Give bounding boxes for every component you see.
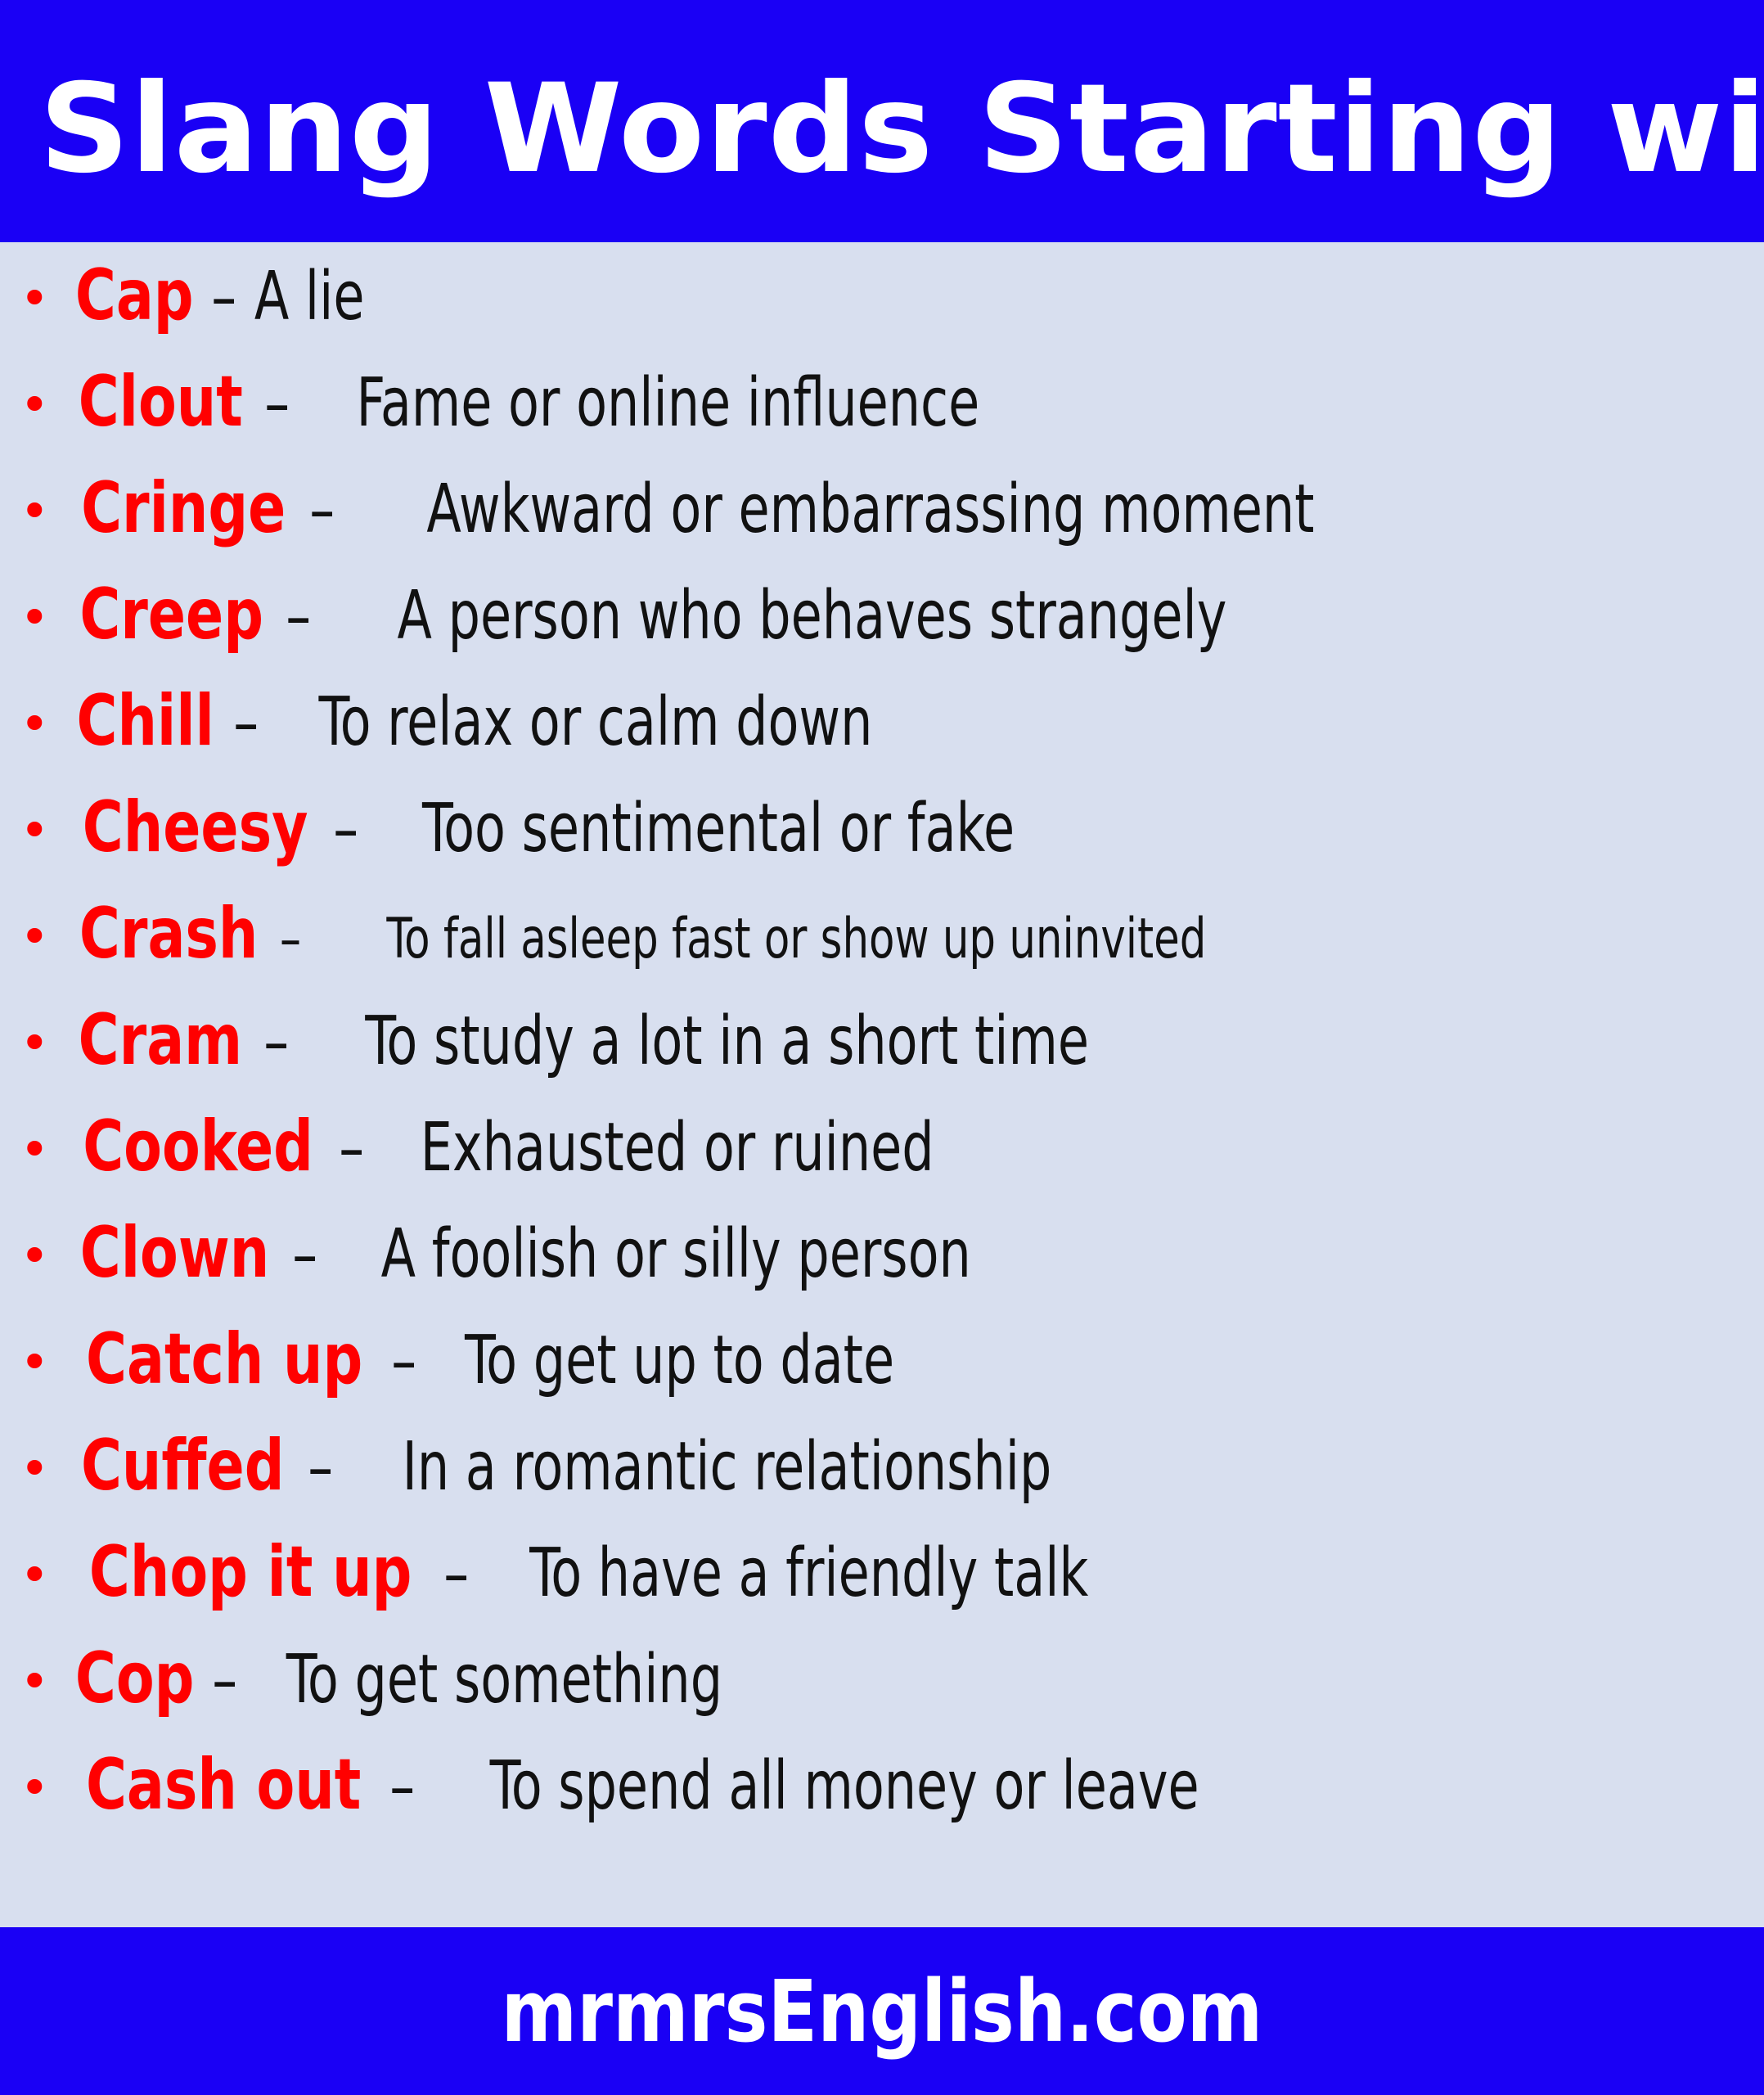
separator-dash: – [205, 264, 241, 330]
separator-dash: – [385, 1328, 421, 1394]
slang-term: Cuffed [81, 1430, 285, 1501]
slang-definition: In a romantic relationship [403, 1434, 1052, 1501]
poster-header: Slang Words Starting with C [0, 0, 1764, 242]
slang-poster: Slang Words Starting with C • Cap – A li… [0, 0, 1764, 2095]
slang-term: Crash [79, 899, 259, 969]
slang-definition: Exhausted or ruined [421, 1115, 934, 1182]
separator-dash: – [205, 1647, 241, 1713]
slang-term: Chill [76, 686, 214, 756]
separator-dash: – [303, 477, 339, 543]
bullet-icon: • [20, 1763, 67, 1813]
slang-definition: A person who behaves strangely [398, 583, 1227, 650]
list-item: • Crash – To fall asleep fast or show up… [0, 899, 1764, 1005]
slang-definition: To fall asleep fast or show up uninvited [386, 912, 1206, 967]
slang-definition: A lie [254, 264, 365, 331]
slang-definition: To study a lot in a short time [365, 1008, 1089, 1075]
slang-term: Cash out [86, 1750, 361, 1820]
slang-definition: Awkward or embarrassing moment [427, 476, 1315, 543]
slang-definition: To get up to date [465, 1327, 894, 1394]
slang-term: Clown [80, 1218, 269, 1288]
separator-dash: – [227, 690, 263, 755]
separator-dash: – [437, 1541, 473, 1606]
list-item: • Cringe – Awkward or embarrassing momen… [0, 473, 1764, 579]
bullet-icon: • [20, 1124, 67, 1175]
slang-term: Cram [79, 1005, 242, 1075]
separator-dash: – [257, 1009, 293, 1075]
bullet-icon: • [20, 1231, 67, 1282]
separator-dash: – [383, 1754, 419, 1819]
list-item: • Clown – A foolish or silly person [0, 1218, 1764, 1324]
separator-dash: – [326, 796, 362, 862]
page-title: Slang Words Starting with C [39, 48, 1764, 194]
list-item: • Catch up – To get up to date [0, 1324, 1764, 1430]
separator-dash: – [286, 1222, 322, 1287]
page-title-text: Slang Words Starting with [39, 68, 1764, 191]
slang-definition: To relax or calm down [319, 689, 873, 756]
bullet-icon: • [20, 805, 67, 856]
list-item: • Clout – Fame or online influence [0, 367, 1764, 473]
list-item: • Cash out – To spend all money or leave [0, 1750, 1764, 1856]
separator-dash: – [273, 912, 306, 967]
slang-definition: To have a friendly talk [529, 1540, 1088, 1607]
poster-footer: mrmrsEnglish.com [0, 1927, 1764, 2095]
list-item: • Cuffed – In a romantic relationship [0, 1430, 1764, 1537]
slang-term: Cop [75, 1643, 194, 1714]
poster-body: • Cap – A lie • Clout – Fame or online i… [0, 242, 1764, 1927]
bullet-icon: • [20, 1656, 67, 1707]
bullet-icon: • [20, 380, 67, 430]
separator-dash: – [257, 371, 293, 436]
list-item: • Cram – To study a lot in a short time [0, 1005, 1764, 1111]
slang-definition: A foolish or silly person [381, 1221, 971, 1288]
site-credit: mrmrsEnglish.com [502, 1969, 1263, 2054]
slang-definition: Fame or online influence [356, 370, 979, 437]
list-item: • Cooked – Exhausted or ruined [0, 1111, 1764, 1218]
separator-dash: – [332, 1115, 368, 1181]
list-item: • Cop – To get something [0, 1643, 1764, 1750]
slang-term: Catch up [86, 1324, 362, 1394]
slang-term: Cheesy [83, 792, 308, 863]
separator-dash: – [279, 583, 315, 649]
slang-definition: To spend all money or leave [490, 1753, 1199, 1820]
slang-term: Clout [79, 367, 243, 437]
slang-term: Creep [79, 579, 263, 650]
list-item: • Creep – A person who behaves strangely [0, 579, 1764, 686]
slang-word-list: • Cap – A lie • Clout – Fame or online i… [0, 260, 1764, 1856]
bullet-icon: • [20, 1550, 67, 1601]
list-item: • Chop it up – To have a friendly talk [0, 1537, 1764, 1643]
bullet-icon: • [20, 592, 67, 643]
bullet-icon: • [20, 699, 67, 750]
slang-term: Cap [75, 260, 194, 331]
slang-term: Chop it up [89, 1537, 412, 1607]
bullet-icon: • [20, 912, 67, 962]
list-item: • Chill – To relax or calm down [0, 686, 1764, 792]
bullet-icon: • [20, 1337, 67, 1388]
bullet-icon: • [20, 273, 67, 324]
bullet-icon: • [20, 1018, 67, 1069]
bullet-icon: • [20, 486, 67, 537]
slang-term: Cringe [81, 473, 286, 543]
slang-definition: Too sentimental or fake [422, 795, 1015, 863]
slang-definition: To get something [286, 1647, 722, 1714]
list-item: • Cap – A lie [0, 260, 1764, 367]
list-item: • Cheesy – Too sentimental or fake [0, 792, 1764, 899]
separator-dash: – [301, 1435, 337, 1500]
slang-term: Cooked [83, 1111, 313, 1182]
bullet-icon: • [20, 1444, 67, 1494]
